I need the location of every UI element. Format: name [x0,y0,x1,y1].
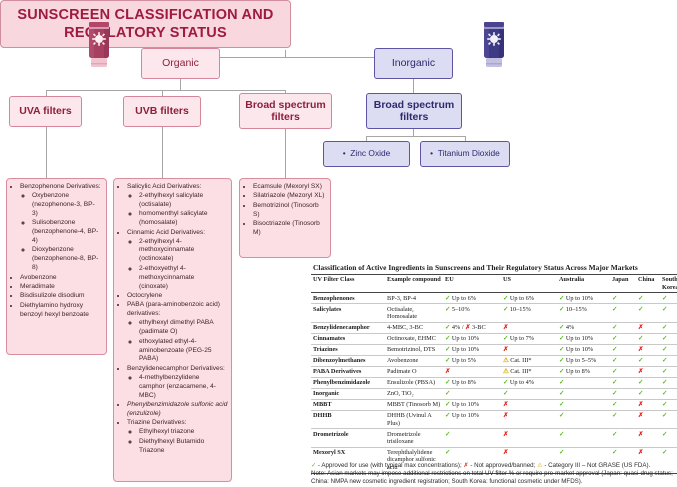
page-title-text: SUNSCREEN CLASSIFICATION AND REGULATORY … [1,6,290,42]
cell-regulatory-status: ✓ [557,399,610,410]
cell-filter-class: Drometrizole [311,429,385,447]
sub-list-item: 2-ethylhexyl salicylate (octisalate) [139,192,225,210]
node-inorganic-label: Inorganic [392,57,435,69]
list-item: Bisoctriazole (Tinosorb M) [253,220,327,238]
cell-example-compound: ZnO, TiO₂ [385,388,443,399]
cell-regulatory-status: ✓ 5–10% [443,304,501,322]
cell-regulatory-status: ✓ Up to 5% [443,355,501,366]
table-row: BenzophenonesBP-3, BP-4✓ Up to 6%✓ Up to… [311,293,677,304]
cell-regulatory-status: ✓ [610,366,636,377]
legend-approved: - Approved for use (with typical max con… [318,462,462,469]
list-item: Octocrylene [127,292,228,301]
cross-icon: ✗ [638,449,643,456]
cell-regulatory-status: ✓ [610,410,636,428]
check-icon: ✓ [662,357,667,364]
uva-filters-panel: Benzophenone Derivatives:Oxybenzone (nez… [6,178,107,355]
node-zinc-oxide[interactable]: Zinc Oxide [323,141,410,167]
cell-regulatory-status: ✓ Up to 10% [443,344,501,355]
cell-regulatory-status: ✓ [636,333,660,344]
cell-regulatory-status: ✓ [610,304,636,322]
cell-regulatory-status: ✓ Up to 10% [443,399,501,410]
list-item-label: Meradimate [20,283,55,290]
connector-organic-split [46,90,286,91]
check-icon: ✓ [638,295,643,302]
check-icon: ✓ [559,401,564,408]
table-column-header: China [636,275,660,293]
cell-regulatory-status: ✓ 4% [557,322,610,333]
cell-regulatory-status: ✓ [660,322,677,333]
check-icon: ✓ [445,431,450,438]
cross-icon: ✗ [463,462,468,469]
cell-regulatory-status: ✓ [443,429,501,447]
regulatory-status-table: UV Filter ClassExample compoundEUUSAustr… [311,274,677,474]
cell-regulatory-status: ✓ [610,322,636,333]
cell-value: Up to 10% [450,401,479,408]
list-item-label: Bisoctriazole (Tinosorb M) [253,220,320,236]
cell-regulatory-status: ✓ [660,399,677,410]
cell-regulatory-status: ✗ [501,429,557,447]
cell-regulatory-status: ✗ [443,366,501,377]
cell-example-compound: Avobenzone [385,355,443,366]
list-item-label: Silatriazole (Mezoryl XL) [253,192,324,199]
cell-regulatory-status: ✓ [660,410,677,428]
cell-regulatory-status: ✗ [501,399,557,410]
node-broad-spectrum-inorganic[interactable]: Broad spectrum filters [366,93,462,129]
check-icon: ✓ [559,379,564,386]
cross-icon: ✗ [638,412,643,419]
cell-value: Up to 10% [564,346,593,353]
table-body: BenzophenonesBP-3, BP-4✓ Up to 6%✓ Up to… [311,293,677,473]
cell-value: 3-BC [470,324,485,331]
cell-filter-class: PABA Derivatives [311,366,385,377]
check-icon: ✓ [612,295,617,302]
sub-list: 4-methylbenzylidene camphor (enzacamene,… [127,374,228,401]
cell-value: Up to 4% [508,379,534,386]
cell-filter-class: Phenylbenzimidazole [311,377,385,388]
cell-regulatory-status: ✓ Up to 8% [557,366,610,377]
sub-list: 2-ethylhexyl 4-methoxycinnamate (octinox… [127,238,228,292]
table-legend: ✓ - Approved for use (with typical max c… [311,462,675,487]
cell-example-compound: Bemotrizinol, DTS [385,344,443,355]
cell-value: Up to 8% [564,368,590,375]
check-icon: ✓ [662,401,667,408]
node-titanium-dioxide-label: Titanium Dioxide [430,149,500,159]
check-icon: ✓ [638,335,643,342]
cell-regulatory-status: ✓ [557,429,610,447]
node-uvb-label: UVB filters [135,105,189,117]
check-icon: ✓ [612,368,617,375]
cell-regulatory-status: ✓ Up to 6% [443,293,501,304]
connector-uvb-panel [162,127,163,181]
cell-regulatory-status: ✓ [636,388,660,399]
list-item-label: Salicylic Acid Derivatives: [127,183,201,190]
cell-regulatory-status: ✓ 4% / ✗ 3-BC [443,322,501,333]
list-item: Salicylic Acid Derivatives:2-ethylhexyl … [127,183,228,228]
broad-spectrum-list: Ecamsule (Mexoryl SX)Silatriazole (Mezor… [240,183,330,238]
table-row: MBBTMBBT (Tinosorb M)✓ Up to 10%✗✓✓✗✓ [311,399,677,410]
list-item: Silatriazole (Mezoryl XL) [253,192,327,201]
cell-regulatory-status: ✗ [636,429,660,447]
check-icon: ✓ [559,390,564,397]
cell-regulatory-status: ✓ [610,429,636,447]
table-row: PABA DerivativesPadimate O✗⚠ Cat. III*✓ … [311,366,677,377]
node-broad-inorganic-label: Broad spectrum filters [367,99,461,123]
table-header-row: UV Filter ClassExample compoundEUUSAustr… [311,275,677,293]
cell-value: Cat. III* [509,357,532,364]
cell-filter-class: DHHB [311,410,385,428]
cell-value: Up to 6% [508,295,534,302]
list-item-label: Bemotrizinol (Tinosorb S) [253,202,319,218]
regulatory-table-wrap: Classification of Active Ingredients in … [311,263,674,474]
cell-regulatory-status: ✗ [501,344,557,355]
cell-regulatory-status: ✓ Up to 10% [557,333,610,344]
cell-example-compound: MBBT (Tinosorb M) [385,399,443,410]
cross-icon: ✗ [503,449,508,456]
sub-list: Ethylhexyl triazoneDiethylhexyl Butamido… [127,428,228,455]
warning-triangle-icon: ⚠ [537,462,543,469]
list-item-label: Benzylidenecamphor Derivatives: [127,365,225,372]
cell-regulatory-status: ✓ [660,366,677,377]
node-organic[interactable]: Organic [141,48,220,79]
cell-regulatory-status: ⚠ Cat. III* [501,355,557,366]
list-item: Bisdisulizole disodium [20,292,103,301]
list-item-label: Phenylbenzimidazole sulfonic acid (enzul… [127,401,227,417]
check-icon: ✓ [662,335,667,342]
cell-filter-class: Salicylates [311,304,385,322]
check-icon: ✓ [638,379,643,386]
table-column-header: EU [443,275,501,293]
cell-regulatory-status: ✓ Up to 10% [557,293,610,304]
connector-inorganic-split [366,136,465,137]
infographic-root: SUNSCREEN CLASSIFICATION AND REGULATORY … [0,0,677,487]
node-broad-spectrum-organic[interactable]: Broad spectrum filters [239,93,332,129]
check-icon: ✓ [559,431,564,438]
check-icon: ✓ [638,306,643,313]
list-item: Triazine Derivatives:Ethylhexyl triazone… [127,419,228,455]
table-column-header: UV Filter Class [311,275,385,293]
broad-spectrum-panel: Ecamsule (Mexoryl SX)Silatriazole (Mezor… [239,178,331,258]
check-icon: ✓ [612,306,617,313]
check-icon: ✓ [662,379,667,386]
sub-list-item: homomenthyl salicylate (homosalate) [139,210,225,228]
list-item: Diethylamino hydroxy benzoyl hexyl benzo… [20,302,103,320]
cell-regulatory-status: ✓ [557,377,610,388]
check-icon: ✓ [662,368,667,375]
cell-regulatory-status: ✓ [557,388,610,399]
cell-value: 10–15% [508,306,531,313]
table-row: InorganicZnO, TiO₂✓✓✓✓✓✓ [311,388,677,399]
pink-sunscreen-tube-icon [82,19,116,71]
node-broad-organic-label: Broad spectrum filters [240,99,331,123]
table-column-header: US [501,275,557,293]
sub-list-item: Oxybenzone (nezophenone-3, BP-3) [32,192,100,219]
cell-example-compound: Ensulizole (PBSA) [385,377,443,388]
cell-regulatory-status: ✓ [660,304,677,322]
cell-filter-class: Triazines [311,344,385,355]
cell-regulatory-status: ✓ Up to 5–5% [557,355,610,366]
cell-regulatory-status: ✓ [660,355,677,366]
check-icon: ✓ [612,401,617,408]
node-inorganic[interactable]: Inorganic [374,48,453,79]
list-item: Bemotrizinol (Tinosorb S) [253,202,327,220]
cell-example-compound: DHHB (Uvinul A Plus) [385,410,443,428]
sub-list: 2-ethylhexyl salicylate (octisalate)homo… [127,192,228,228]
cross-icon: ✗ [638,368,643,375]
cell-regulatory-status: ✓ Up to 10% [443,410,501,428]
cell-value: Up to 10% [450,335,479,342]
connector-broad-panel [285,129,286,181]
table-row: DHHBDHHB (Uvinul A Plus)✓ Up to 10%✗✓✓✗✓ [311,410,677,428]
list-item-label: Bisdisulizole disodium [20,292,85,299]
cell-filter-class: Inorganic [311,388,385,399]
check-icon: ✓ [612,449,617,456]
sub-list: Oxybenzone (nezophenone-3, BP-3)Sulisobe… [20,192,103,273]
blue-sunscreen-tube-icon [477,19,511,71]
cell-value: Cat. III* [509,368,532,375]
cell-value: 10–15% [564,306,587,313]
cell-regulatory-status: ✓ [610,399,636,410]
cell-regulatory-status: ✓ [660,388,677,399]
check-icon: ✓ [445,390,450,397]
cell-value: Up to 5–5% [564,357,596,364]
cell-example-compound: 4-MBC, 3-BC [385,322,443,333]
sub-list-item: 4-methylbenzylidene camphor (enzacamene,… [139,374,225,401]
sub-list-item: 2-ethylhexyl 4-methoxycinnamate (octinox… [139,238,225,265]
cell-regulatory-status: ✗ [636,366,660,377]
cell-regulatory-status: ✗ [501,410,557,428]
cross-icon: ✗ [638,431,643,438]
cell-regulatory-status: ✓ Up to 10% [443,333,501,344]
cell-regulatory-status: ✗ [501,322,557,333]
cross-icon: ✗ [503,401,508,408]
cell-regulatory-status: ✓ 10–15% [501,304,557,322]
sub-list-item: ethylhexyl dimethyl PABA (padimate O) [139,319,225,337]
check-icon: ✓ [612,431,617,438]
check-icon: ✓ [612,324,617,331]
check-icon: ✓ [662,306,667,313]
cell-value: Up to 6% [450,295,476,302]
cell-value: Up to 10% [450,346,479,353]
cross-icon: ✗ [503,412,508,419]
list-item-label: Cinnamic Acid Derivatives: [127,229,205,236]
cell-regulatory-status: ✓ [610,333,636,344]
check-icon: ✓ [445,449,450,456]
check-icon: ✓ [638,357,643,364]
table-caption: Classification of Active Ingredients in … [311,263,674,274]
cell-example-compound: Octinoxate, EHMC [385,333,443,344]
cell-regulatory-status: ✓ [610,344,636,355]
list-item: Benzophenone Derivatives:Oxybenzone (nez… [20,183,103,273]
legend-banned: - Not approved/banned; [470,462,535,469]
cell-regulatory-status: ✗ [636,344,660,355]
sub-list-item: Diethylhexyl Butamido Triazone [139,438,225,456]
cell-regulatory-status: ✓ [610,388,636,399]
cell-value: Up to 10% [564,335,593,342]
node-organic-label: Organic [162,57,199,69]
check-icon: ✓ [662,431,667,438]
cell-regulatory-status: ✓ [660,293,677,304]
check-icon: ✓ [612,390,617,397]
cell-value: 5–10% [450,306,469,313]
check-icon: ✓ [612,346,617,353]
cell-regulatory-status: ✓ Up to 8% [443,377,501,388]
sub-list: ethylhexyl dimethyl PABA (padimate O)eth… [127,319,228,364]
cell-regulatory-status: ✗ [636,410,660,428]
cell-regulatory-status: ✓ Up to 4% [501,377,557,388]
cell-regulatory-status: ✓ 10–15% [557,304,610,322]
cell-regulatory-status: ✗ [636,399,660,410]
list-item-label: Octocrylene [127,292,162,299]
list-item-label: Ecamsule (Mexoryl SX) [253,183,322,190]
cell-value: Up to 7% [508,335,534,342]
node-uva-label: UVA filters [19,105,72,117]
check-icon: ✓ [559,449,564,456]
cell-filter-class: Benzophenones [311,293,385,304]
cell-regulatory-status: ✓ [660,377,677,388]
legend-cat3: - Category III – Not GRASE (US FDA). [544,462,650,469]
cell-regulatory-status: ✓ [610,377,636,388]
cell-regulatory-status: ✓ [557,410,610,428]
check-icon: ✓ [559,412,564,419]
cross-icon: ✗ [503,431,508,438]
cell-regulatory-status: ✓ [610,355,636,366]
uvb-filters-list: Salicylic Acid Derivatives:2-ethylhexyl … [114,183,231,456]
cell-example-compound: Padimate O [385,366,443,377]
cell-value: Up to 8% [450,379,476,386]
cell-value: Up to 10% [450,412,479,419]
sub-list-item: Sulisobenzone (benzophenone-4, BP-4) [32,219,100,246]
table-row: TriazinesBemotrizinol, DTS✓ Up to 10%✗✓ … [311,344,677,355]
check-icon: ✓ [662,324,667,331]
table-row: PhenylbenzimidazoleEnsulizole (PBSA)✓ Up… [311,377,677,388]
connector-uva-panel [46,127,47,181]
sub-list-item: 2-ethoxyethyl 4-methoxycinnamate (cinoxa… [139,265,225,292]
cell-regulatory-status: ✓ [660,429,677,447]
cross-icon: ✗ [638,401,643,408]
table-row: DibenzoylmethanesAvobenzone✓ Up to 5%⚠ C… [311,355,677,366]
cell-filter-class: Dibenzoylmethanes [311,355,385,366]
table-column-header: Japan [610,275,636,293]
node-uva-filters[interactable]: UVA filters [9,96,82,127]
cell-example-compound: BP-3, BP-4 [385,293,443,304]
table-row: SalicylatesOctisalate, Homosalate✓ 5–10%… [311,304,677,322]
check-icon: ✓ [662,412,667,419]
table-column-header: South Korea [660,275,677,293]
cell-regulatory-status: ✓ [443,388,501,399]
cross-icon: ✗ [445,368,450,375]
check-icon: ✓ [612,335,617,342]
list-item-label: PABA (para-aminobenzoic acid) derivative… [127,301,220,317]
cell-regulatory-status: ✓ Up to 10% [557,344,610,355]
list-item: Benzylidenecamphor Derivatives:4-methylb… [127,365,228,401]
list-item-label: Avobenzone [20,274,57,281]
cell-regulatory-status: ✓ [610,293,636,304]
check-icon: ✓ [612,379,617,386]
legend-note: Note: Asian markets may impose additiona… [311,470,675,486]
cross-icon: ✗ [638,346,643,353]
check-icon: ✓ [662,295,667,302]
cell-value: Up to 10% [564,295,593,302]
cell-value: Up to 5% [450,357,476,364]
check-icon: ✓ [612,357,617,364]
check-icon: ✓ [503,390,508,397]
check-icon: ✓ [638,390,643,397]
cell-regulatory-status: ✓ Up to 6% [501,293,557,304]
table-head: UV Filter ClassExample compoundEUUSAustr… [311,275,677,293]
check-icon: ✓ [612,412,617,419]
page-title: SUNSCREEN CLASSIFICATION AND REGULATORY … [0,0,291,48]
cell-regulatory-status: ✓ Up to 7% [501,333,557,344]
cell-regulatory-status: ✓ [660,333,677,344]
uva-filters-list: Benzophenone Derivatives:Oxybenzone (nez… [7,183,106,320]
check-icon: ✓ [662,390,667,397]
node-titanium-dioxide[interactable]: Titanium Dioxide [420,141,510,167]
cell-regulatory-status: ✓ [501,388,557,399]
sub-list-item: Dioxybenzone (benzophenone-8, BP-8) [32,246,100,273]
cell-regulatory-status: ✓ [636,377,660,388]
list-item: Meradimate [20,283,103,292]
cell-filter-class: Cinnamates [311,333,385,344]
list-item: Phenylbenzimidazole sulfonic acid (enzul… [127,401,228,419]
cell-value: 4% [564,324,574,331]
check-icon: ✓ [662,449,667,456]
table-column-header: Australia [557,275,610,293]
cell-regulatory-status: ✓ [660,344,677,355]
list-item: Ecamsule (Mexoryl SX) [253,183,327,192]
cross-icon: ✗ [638,324,643,331]
sub-list-item: ethoxylated ethyl-4-aminobenzoate (PEG-2… [139,338,225,365]
cell-regulatory-status: ⚠ Cat. III* [501,366,557,377]
list-item-label: Triazine Derivatives: [127,419,186,426]
list-item: Cinnamic Acid Derivatives:2-ethylhexyl 4… [127,229,228,292]
node-zinc-oxide-label: Zinc Oxide [343,149,391,159]
check-icon: ✓ [311,462,316,469]
list-item-label: Benzophenone Derivatives: [20,183,101,190]
cell-regulatory-status: ✓ [636,293,660,304]
sub-list-item: Ethylhexyl triazone [139,428,225,437]
check-icon: ✓ [662,346,667,353]
table-row: CinnamatesOctinoxate, EHMC✓ Up to 10%✓ U… [311,333,677,344]
cell-regulatory-status: ✓ [636,304,660,322]
cell-filter-class: MBBT [311,399,385,410]
table-row: Benzylidenecamphor4-MBC, 3-BC✓ 4% / ✗ 3-… [311,322,677,333]
cell-filter-class: Benzylidenecamphor [311,322,385,333]
node-uvb-filters[interactable]: UVB filters [123,96,201,127]
cross-icon: ✗ [503,324,508,331]
list-item: PABA (para-aminobenzoic acid) derivative… [127,301,228,364]
cell-example-compound: Drometrizole trisiloxane [385,429,443,447]
cross-icon: ✗ [503,346,508,353]
uvb-filters-panel: Salicylic Acid Derivatives:2-ethylhexyl … [113,178,232,482]
cell-regulatory-status: ✓ [636,355,660,366]
cell-value: 4% / [450,324,465,331]
table-column-header: Example compound [385,275,443,293]
table-row: DrometrizoleDrometrizole trisiloxane✓✗✓✓… [311,429,677,447]
list-item: Avobenzone [20,274,103,283]
list-item-label: Diethylamino hydroxy benzoyl hexyl benzo… [20,302,89,318]
cell-regulatory-status: ✗ [636,322,660,333]
cell-example-compound: Octisalate, Homosalate [385,304,443,322]
